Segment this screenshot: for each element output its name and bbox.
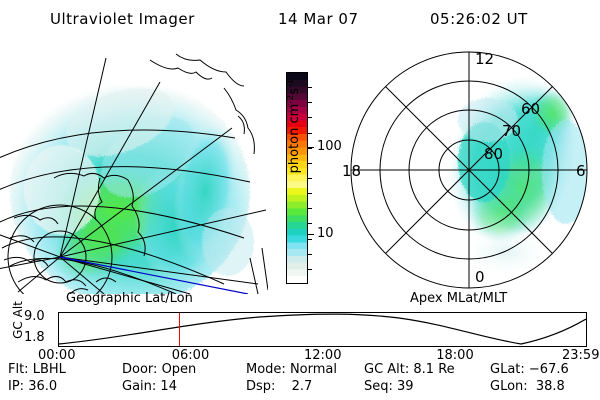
colorbar-tick-mark-1 <box>308 234 314 235</box>
colorbar-minor-tick <box>308 102 312 103</box>
colorbar-minor-tick <box>308 148 312 149</box>
status-dsp-label: Dsp: <box>246 379 275 394</box>
colorbar: 10010 photon cm-2s-1 <box>262 60 342 300</box>
current-time-marker <box>179 313 181 346</box>
status-glat-label: GLat: <box>490 362 525 377</box>
status-gcalt: GC Alt: 8.1 Re <box>364 362 455 377</box>
status-ip-value: 36.0 <box>28 379 57 394</box>
orbit-time-tick-0000: 00:00 <box>38 349 75 362</box>
status-mode-label: Mode: <box>246 362 286 377</box>
colorbar-minor-tick <box>308 133 312 134</box>
geographic-panel-caption: Geographic Lat/Lon <box>66 291 193 306</box>
status-dsp: Dsp: 2.7 <box>246 379 312 394</box>
orbit-altitude-strip[interactable]: GC Alt 9.01.8 00:0006:0012:0018:0023:59 <box>0 305 600 357</box>
colorbar-axis-label: photon cm-2s-1 <box>286 46 302 206</box>
colorbar-tick-label-10: 10 <box>317 227 334 240</box>
colorbar-minor-tick <box>308 178 312 179</box>
orbit-alt-tick-90: 9.0 <box>24 310 45 323</box>
status-gcalt-value: 8.1 Re <box>413 362 454 377</box>
geographic-image-panel[interactable] <box>0 42 268 294</box>
status-flt-label: Flt: <box>8 362 29 377</box>
orbit-time-tick-2359: 23:59 <box>562 349 599 362</box>
orbit-time-tick-1800: 18:00 <box>436 349 473 362</box>
altitude-trace <box>59 314 586 344</box>
colorbar-minor-tick <box>308 163 312 164</box>
status-seq-value: 39 <box>397 379 414 394</box>
orbit-alt-tick-18: 1.8 <box>24 331 45 344</box>
instrument-title: Ultraviolet Imager <box>50 10 195 28</box>
colorbar-minor-tick <box>308 269 312 270</box>
status-glon-value: 38.8 <box>536 379 565 394</box>
orbit-y-axis-label: GC Alt <box>11 290 25 350</box>
status-gain-label: Gain: <box>122 379 156 394</box>
colorbar-minor-tick <box>308 87 312 88</box>
polar-plot: 12 18 6 0 60 70 80 <box>338 42 600 294</box>
header-bar: Ultraviolet Imager 14 Mar 07 05:26:02 UT <box>0 6 600 32</box>
apex-mlat-mlt-panel[interactable]: 12 18 6 0 60 70 80 <box>338 42 600 294</box>
colorbar-minor-tick <box>308 117 312 118</box>
status-door-value: Open <box>162 362 197 377</box>
colorbar-unit-exp1: -2 <box>286 95 296 104</box>
mlat-label-80: 80 <box>484 145 503 163</box>
status-ip: IP: 36.0 <box>8 379 57 394</box>
status-glon: GLon: 38.8 <box>490 379 565 394</box>
status-seq: Seq: 39 <box>364 379 414 394</box>
status-glat: GLat: −67.6 <box>490 362 569 377</box>
mlat-label-60: 60 <box>521 100 540 118</box>
status-glat-value: −67.6 <box>529 362 569 377</box>
status-flt-value: LBHL <box>33 362 66 377</box>
mlt-label-12: 12 <box>475 50 494 68</box>
status-gain-value: 14 <box>160 379 177 394</box>
orbit-time-tick-0600: 06:00 <box>172 349 209 362</box>
colorbar-minor-tick <box>308 254 312 255</box>
status-dsp-value: 2.7 <box>292 379 313 394</box>
mlat-label-70: 70 <box>502 122 521 140</box>
mlt-label-0: 0 <box>475 268 485 286</box>
status-ip-label: IP: <box>8 379 24 394</box>
orbit-time-tick-1200: 12:00 <box>304 349 341 362</box>
colorbar-unit-s: s <box>287 88 302 95</box>
status-flt: Flt: LBHL <box>8 362 66 377</box>
colorbar-unit-exp2: -1 <box>286 79 296 88</box>
apex-panel-caption: Apex MLat/MLT <box>410 291 507 306</box>
status-seq-label: Seq: <box>364 379 393 394</box>
mlt-spokes <box>351 52 587 288</box>
orbit-plot-box <box>58 312 587 347</box>
observation-time: 05:26:02 UT <box>430 10 528 28</box>
status-mode-value: Normal <box>290 362 337 377</box>
observation-date: 14 Mar 07 <box>278 10 359 28</box>
status-gain: Gain: 14 <box>122 379 177 394</box>
status-door-label: Door: <box>122 362 157 377</box>
colorbar-minor-tick <box>308 223 312 224</box>
mlt-label-18: 18 <box>342 162 361 180</box>
geographic-plot <box>0 42 268 294</box>
colorbar-minor-tick <box>308 208 312 209</box>
orbit-altitude-curve <box>59 313 586 346</box>
colorbar-unit-photon: photon cm <box>287 104 302 174</box>
status-gcalt-label: GC Alt: <box>364 362 409 377</box>
colorbar-minor-tick <box>308 239 312 240</box>
colorbar-minor-tick <box>308 193 312 194</box>
mlt-label-6: 6 <box>576 162 586 180</box>
status-door: Door: Open <box>122 362 196 377</box>
status-mode: Mode: Normal <box>246 362 337 377</box>
aurora-emission-region <box>10 75 254 294</box>
status-bar: Flt: LBHL IP: 36.0 Door: Open Gain: 14 M… <box>0 362 600 400</box>
status-glon-label: GLon: <box>490 379 528 394</box>
